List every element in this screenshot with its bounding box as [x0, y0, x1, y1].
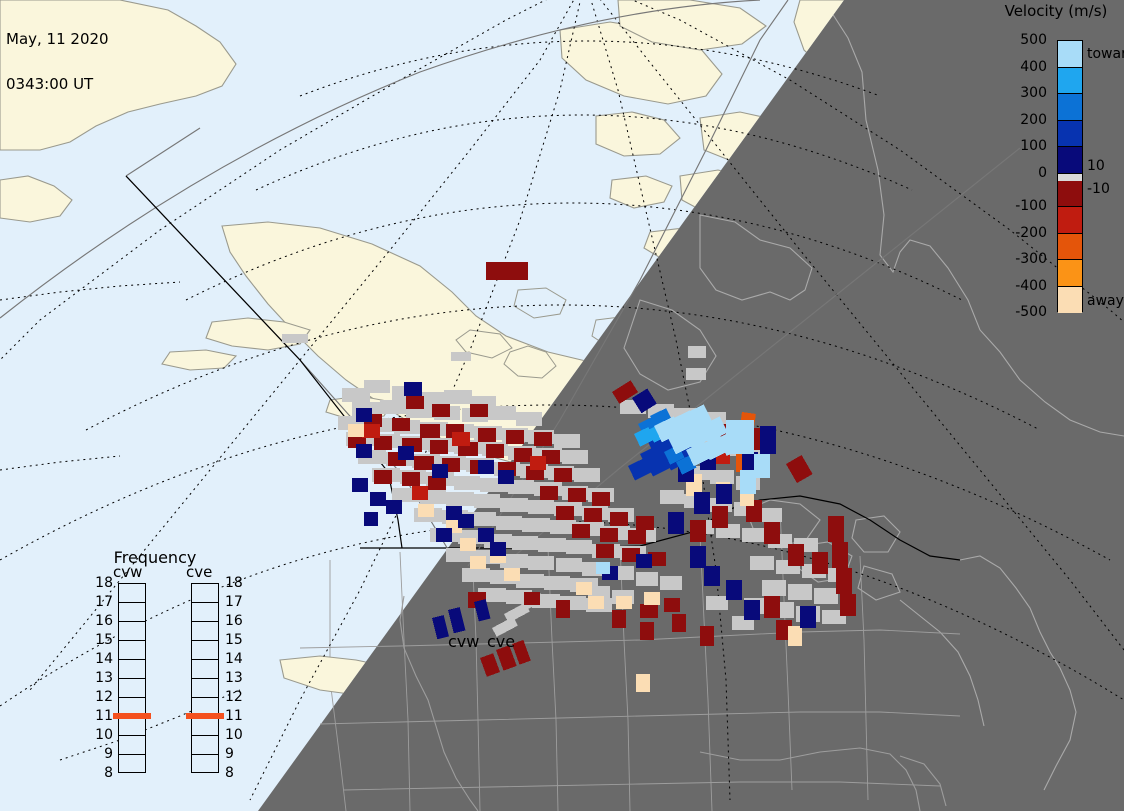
- frequency-tick-cvw-15: 15: [89, 633, 113, 647]
- frequency-marker-cve: [186, 713, 224, 719]
- frequency-tick-cve-9: 9: [225, 747, 234, 761]
- frequency-column-label-cve: cve: [186, 565, 212, 580]
- frequency-tick-cve-16: 16: [225, 614, 243, 628]
- frequency-tick-cve-12: 12: [225, 690, 243, 704]
- radar-map-figure: May, 11 2020 0343:00 UT cvw cve Velocity…: [0, 0, 1124, 811]
- timestamp-time: 0343:00 UT: [6, 77, 109, 92]
- frequency-tick-cvw-12: 12: [89, 690, 113, 704]
- frequency-cell: [119, 584, 145, 603]
- colorbar-tick-labels: 5004003002001000-100-200-300-400-500: [980, 0, 1052, 330]
- frequency-tick-cve-14: 14: [225, 652, 243, 666]
- colorbar-band-500: [1058, 41, 1082, 68]
- site-label-cvw: cvw: [448, 634, 479, 650]
- colorbar-label-minus10: -10: [1087, 182, 1110, 196]
- frequency-cell: [192, 736, 218, 755]
- frequency-cell: [192, 622, 218, 641]
- colorbar-band--500: [1058, 287, 1082, 314]
- frequency-scale-cve[interactable]: [191, 583, 219, 773]
- frequency-cell: [119, 755, 145, 774]
- frequency-tick-cvw-17: 17: [89, 595, 113, 609]
- frequency-scale-cvw[interactable]: [118, 583, 146, 773]
- colorbar-band-400: [1058, 68, 1082, 95]
- colorbar-tick--100: -100: [1015, 199, 1047, 213]
- frequency-tick-cve-10: 10: [225, 728, 243, 742]
- frequency-tick-cvw-14: 14: [89, 652, 113, 666]
- colorbar-tick-400: 400: [1020, 60, 1047, 74]
- frequency-marker-cvw: [113, 713, 151, 719]
- colorbar-tick-0: 0: [1038, 166, 1047, 180]
- frequency-tick-cve-17: 17: [225, 595, 243, 609]
- colorbar-tick--300: -300: [1015, 252, 1047, 266]
- colorbar-tick--500: -500: [1015, 305, 1047, 319]
- colorbar-label-away: away: [1087, 294, 1124, 308]
- frequency-cell: [192, 641, 218, 660]
- frequency-cell: [119, 717, 145, 736]
- frequency-cell: [119, 736, 145, 755]
- colorbar-band--400: [1058, 260, 1082, 287]
- colorbar-gradient: [1057, 40, 1083, 312]
- frequency-tick-cve-15: 15: [225, 633, 243, 647]
- frequency-tick-cvw-13: 13: [89, 671, 113, 685]
- frequency-legend: Frequency cvw18171615141312111098cve1817…: [85, 545, 235, 790]
- frequency-column-label-cvw: cvw: [113, 565, 142, 580]
- colorbar-tick-100: 100: [1020, 139, 1047, 153]
- frequency-cell: [192, 717, 218, 736]
- frequency-cell: [119, 679, 145, 698]
- frequency-tick-cve-13: 13: [225, 671, 243, 685]
- frequency-cell: [119, 641, 145, 660]
- colorbar-band-200: [1058, 121, 1082, 148]
- frequency-cell: [192, 660, 218, 679]
- frequency-tick-cvw-16: 16: [89, 614, 113, 628]
- frequency-cell: [119, 603, 145, 622]
- frequency-tick-cvw-18: 18: [89, 576, 113, 590]
- colorbar-tick-500: 500: [1020, 33, 1047, 47]
- site-label-cve: cve: [487, 634, 515, 650]
- colorbar-band-300: [1058, 94, 1082, 121]
- frequency-cell: [192, 755, 218, 774]
- colorbar-tick--200: -200: [1015, 226, 1047, 240]
- colorbar-band--300: [1058, 234, 1082, 261]
- colorbar-tick-300: 300: [1020, 86, 1047, 100]
- frequency-tick-cve-18: 18: [225, 576, 243, 590]
- frequency-tick-cve-8: 8: [225, 766, 234, 780]
- timestamp-block: May, 11 2020 0343:00 UT: [6, 2, 109, 122]
- colorbar-label-toward: toward: [1087, 47, 1124, 61]
- frequency-cell: [192, 584, 218, 603]
- colorbar-tick--400: -400: [1015, 279, 1047, 293]
- frequency-cell: [192, 603, 218, 622]
- frequency-tick-cvw-10: 10: [89, 728, 113, 742]
- frequency-tick-cvw-8: 8: [89, 766, 113, 780]
- frequency-cell: [192, 679, 218, 698]
- velocity-colorbar-panel: Velocity (m/s) 5004003002001000-100-200-…: [980, 0, 1124, 330]
- colorbar-band--200: [1058, 207, 1082, 234]
- colorbar-band-0: [1058, 174, 1082, 181]
- frequency-cell: [119, 660, 145, 679]
- colorbar-annotations: toward10-10away: [1085, 0, 1124, 330]
- colorbar-tick-200: 200: [1020, 113, 1047, 127]
- timestamp-date: May, 11 2020: [6, 32, 109, 47]
- colorbar-label-plus10: 10: [1087, 159, 1105, 173]
- frequency-tick-cvw-11: 11: [89, 709, 113, 723]
- colorbar-band--100: [1058, 181, 1082, 208]
- frequency-cell: [119, 622, 145, 641]
- frequency-tick-cve-11: 11: [225, 709, 243, 723]
- colorbar-band-100: [1058, 147, 1082, 174]
- frequency-tick-cvw-9: 9: [89, 747, 113, 761]
